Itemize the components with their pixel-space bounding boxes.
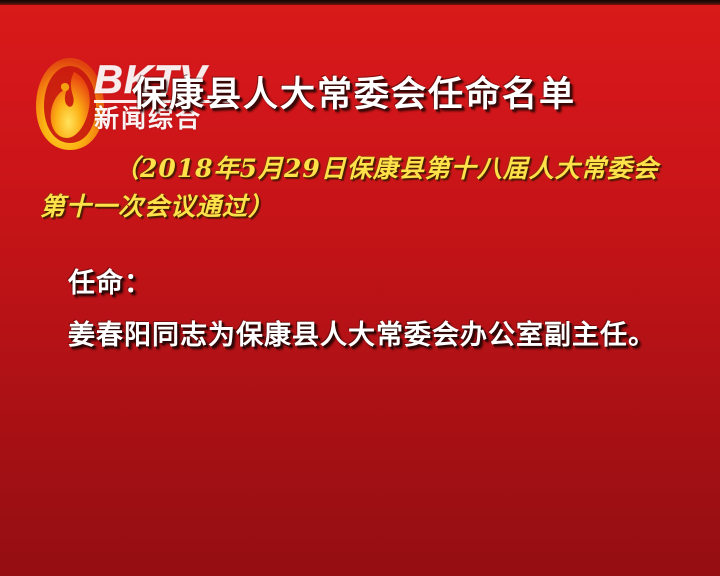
letterbox-top-bar: [0, 0, 720, 5]
appointment-body: 任命： 姜春阳同志为保康县人大常委会办公室副主任。: [68, 258, 668, 362]
broadcast-lower-third-screen: BKTV 新闻综合 保康县人大常委会任命名单 （2018年5月29日保康县第十八…: [0, 0, 720, 576]
subtitle-line-2: 第十一次会议通过）: [40, 188, 688, 226]
appointment-label: 任命：: [68, 258, 668, 310]
page-title: 保康县人大常委会任命名单: [132, 74, 576, 116]
subtitle: （2018年5月29日保康县第十八届人大常委会 第十一次会议通过）: [40, 150, 688, 226]
appointment-entry: 姜春阳同志为保康县人大常委会办公室副主任。: [68, 310, 668, 362]
subtitle-line-1: （2018年5月29日保康县第十八届人大常委会: [40, 150, 688, 188]
